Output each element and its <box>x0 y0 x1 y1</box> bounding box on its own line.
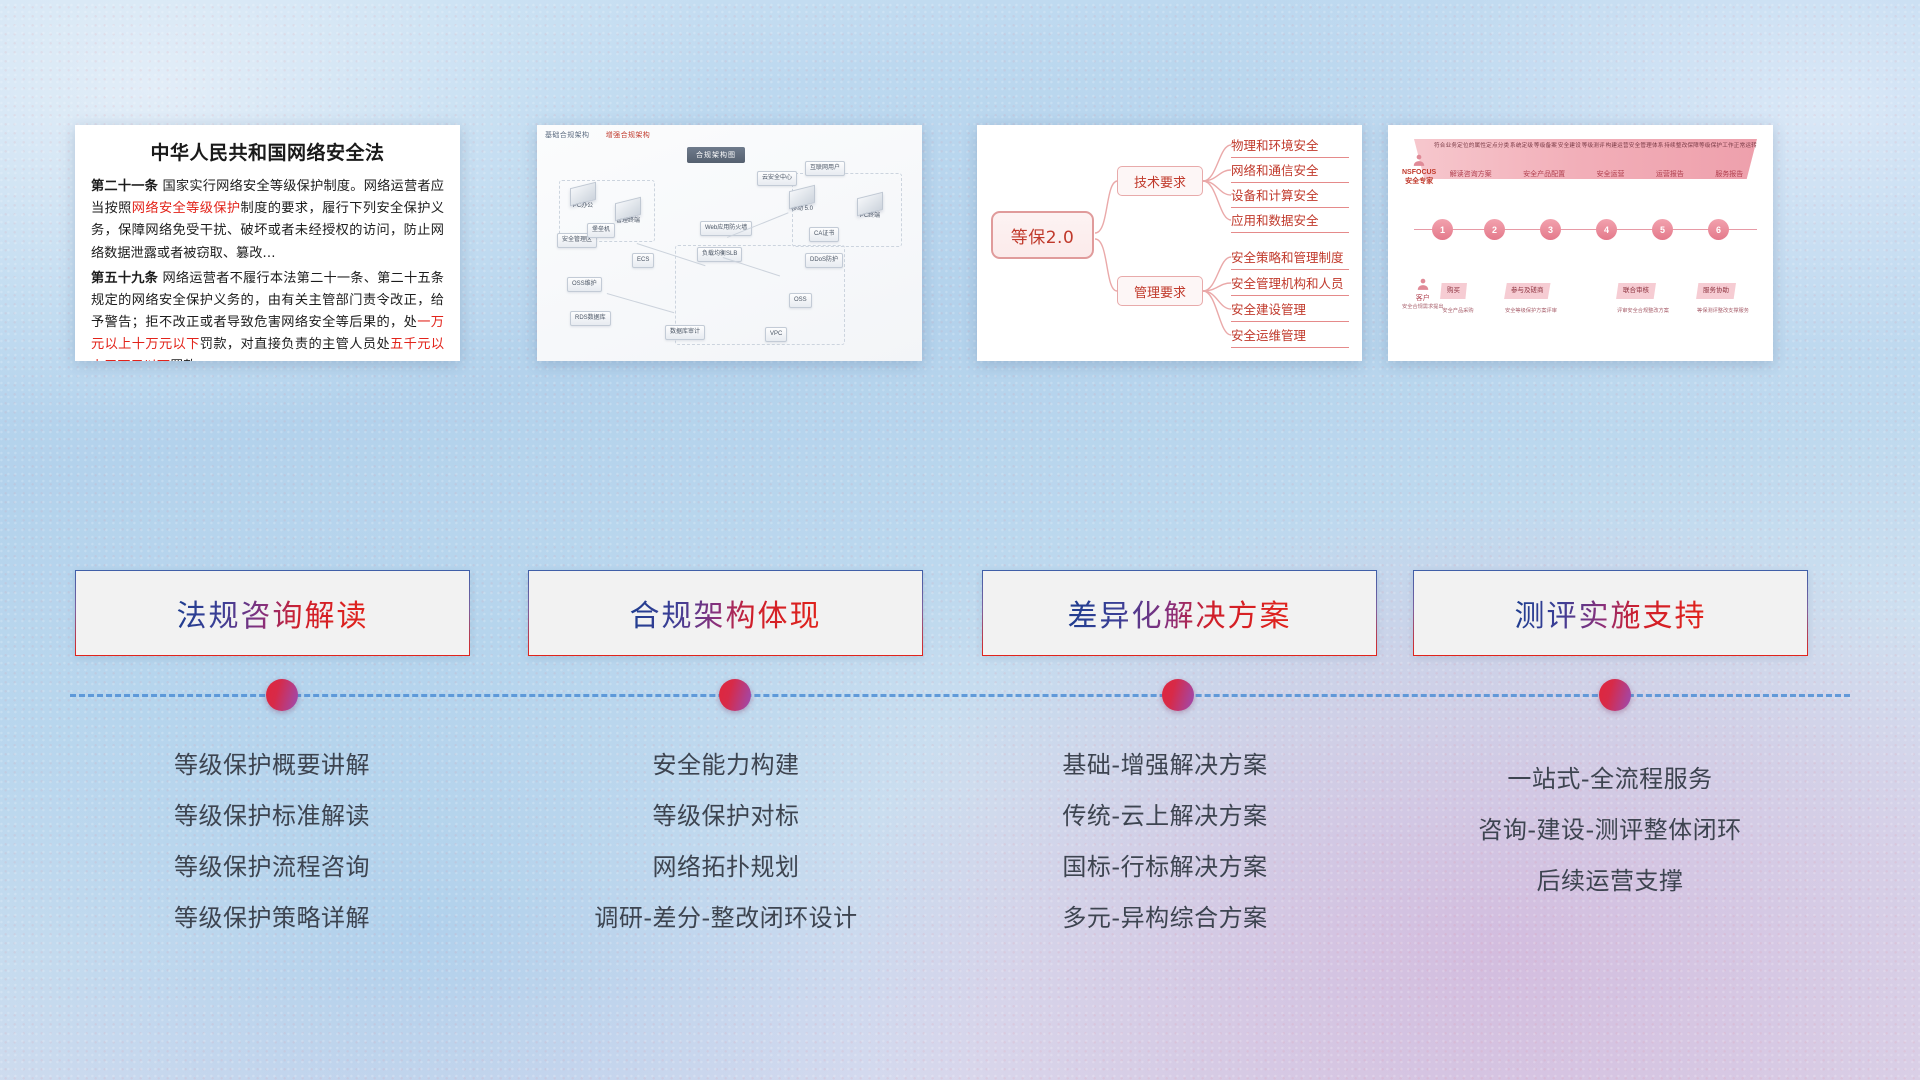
architecture-node-17-label: 数据库审计 <box>665 325 705 340</box>
heading-box-compliance-architecture[interactable]: 合规架构体现 <box>528 570 923 656</box>
architecture-canvas: 基础合规架构 增强合规架构 合规架构图 PC办公 管理终端 安全管理区 互联网用… <box>537 125 922 361</box>
architecture-node-11: CA证书 <box>809 227 839 242</box>
nsfocus-header-step-4: 等级测评 <box>1582 141 1605 149</box>
architecture-banner: 合规架构图 <box>687 147 745 163</box>
nsfocus-brand-badge: NSFOCUS 安全专家 <box>1402 153 1436 187</box>
law-card-body: 中华人民共和国网络安全法 第二十一条 国家实行网络安全等级保护制度。网络运营者应… <box>75 125 460 361</box>
architecture-node-12-label: DDoS防护 <box>805 253 843 268</box>
timeline-dot-0[interactable] <box>266 679 298 711</box>
architecture-node-15: OSS <box>789 293 812 308</box>
nsfocus-header-step-2: 等级备案 <box>1534 141 1557 149</box>
architecture-node-5-label: 云安全中心 <box>757 171 797 186</box>
mindmap-leaf-mgmt-2[interactable]: 安全建设管理 <box>1231 299 1349 322</box>
list-item[interactable]: 多元-异构综合方案 <box>955 893 1375 944</box>
nsfocus-tag-0[interactable]: 购买 <box>1440 283 1467 299</box>
architecture-node-9: 负载均衡SLB <box>697 247 742 262</box>
nsfocus-header-step-0: 符合业务定位的属性定点分类 <box>1434 141 1509 149</box>
mindmap-canvas: 等保2.0 技术要求 管理要求 物理和环境安全 网络和通信安全 设备和计算安全 … <box>977 125 1362 361</box>
list-item[interactable]: 等级保护对标 <box>516 791 936 842</box>
list-item[interactable]: 等级保护策略详解 <box>62 893 482 944</box>
architecture-node-8-label: 堡垒机 <box>587 223 615 238</box>
law-article-59-text-3: 罚款。 <box>170 359 210 361</box>
mindmap-leaf-mgmt-3[interactable]: 安全运维管理 <box>1231 325 1349 348</box>
list-item[interactable]: 咨询-建设-测评整体闭环 <box>1400 805 1820 856</box>
architecture-node-0: PC办公 <box>570 185 596 210</box>
nsfocus-sub-step-4: 服务报告 <box>1715 169 1743 179</box>
architecture-node-11-label: CA证书 <box>809 227 839 242</box>
nsfocus-tag-2[interactable]: 联合审核 <box>1616 283 1656 299</box>
law-article-21-label: 第二十一条 <box>91 179 158 194</box>
architecture-tabs: 基础合规架构 增强合规架构 <box>545 130 664 140</box>
mindmap-leaf-tech-1[interactable]: 网络和通信安全 <box>1231 160 1349 183</box>
mindmap-card[interactable]: 等保2.0 技术要求 管理要求 物理和环境安全 网络和通信安全 设备和计算安全 … <box>977 125 1362 361</box>
architecture-tab-enhanced[interactable]: 增强合规架构 <box>606 132 650 139</box>
law-article-21-highlight: 网络安全等级保护 <box>132 201 241 216</box>
law-article-59: 第五十九条 网络运营者不履行本法第二十一条、第二十五条规定的网络安全保护义务的，… <box>91 268 444 361</box>
customer-person-icon <box>1416 277 1430 291</box>
list-item[interactable]: 国标-行标解决方案 <box>955 842 1375 893</box>
detail-list-assessment-support: 一站式-全流程服务 咨询-建设-测评整体闭环 后续运营支撑 <box>1400 740 1820 907</box>
timeline-dot-3[interactable] <box>1599 679 1631 711</box>
nsfocus-canvas: 符合业务定位的属性定点分类 系统定级 等级备案 安全建设 等级测评 构建运营安全… <box>1388 125 1773 361</box>
nsfocus-header-steps: 符合业务定位的属性定点分类 系统定级 等级备案 安全建设 等级测评 构建运营安全… <box>1434 141 1757 149</box>
nsfocus-sub-steps: 解读咨询方案 安全产品配置 安全运营 运营报告 服务报告 <box>1434 169 1759 179</box>
mindmap-branch-technical[interactable]: 技术要求 <box>1117 166 1203 196</box>
law-article-59-text-2: 罚款，对直接负责的主管人员处 <box>200 337 390 352</box>
architecture-node-1: 管理终端 <box>615 200 641 225</box>
nsfocus-tag-3-title: 服务协助 <box>1703 287 1729 295</box>
nsfocus-sub-step-1: 安全产品配置 <box>1523 169 1565 179</box>
list-item[interactable]: 基础-增强解决方案 <box>955 740 1375 791</box>
architecture-node-4: 移动 5.0 <box>789 188 815 213</box>
nsfocus-sub-step-0: 解读咨询方案 <box>1450 169 1492 179</box>
nsfocus-tag-3-caption: 等保测评整改支撑服务 <box>1676 307 1770 314</box>
nsfocus-header-step-1: 系统定级 <box>1510 141 1533 149</box>
nsfocus-tag-0-title: 购买 <box>1447 287 1460 295</box>
nsfocus-customer-block: 客户 安全合规需求提出 <box>1402 277 1444 310</box>
nsfocus-brand-name: NSFOCUS <box>1402 169 1436 178</box>
heading-row: 法规咨询解读 合规架构体现 差异化解决方案 测评实施支持 <box>0 570 1920 658</box>
architecture-node-10-label: ECS <box>632 253 654 268</box>
heading-label-1: 合规架构体现 <box>630 591 822 635</box>
law-article-59-label: 第五十九条 <box>91 271 158 286</box>
architecture-node-6: PC终端 <box>857 195 883 220</box>
architecture-node-9-label: 负载均衡SLB <box>697 247 742 262</box>
nsfocus-tag-0-caption: 安全产品采购 <box>1428 307 1488 314</box>
nsfocus-header-step-5: 构建运营安全管理体系 <box>1606 141 1664 149</box>
nsfocus-header-step-6: 持续整改保障等级保护工作正常运转 <box>1664 141 1757 149</box>
architecture-node-17: 数据库审计 <box>665 325 705 340</box>
nsfocus-step-dot-5[interactable]: 5 <box>1652 219 1673 240</box>
architecture-node-8: 堡垒机 <box>587 223 615 238</box>
list-item[interactable]: 等级保护标准解读 <box>62 791 482 842</box>
architecture-diagram-card[interactable]: 基础合规架构 增强合规架构 合规架构图 PC办公 管理终端 安全管理区 互联网用… <box>537 125 922 361</box>
architecture-node-3: 互联网用户 <box>805 161 845 176</box>
mindmap-leaf-mgmt-0[interactable]: 安全策略和管理制度 <box>1231 247 1349 270</box>
architecture-node-3-label: 互联网用户 <box>805 161 845 176</box>
timeline-dot-1[interactable] <box>719 679 751 711</box>
law-text-card[interactable]: 中华人民共和国网络安全法 第二十一条 国家实行网络安全等级保护制度。网络运营者应… <box>75 125 460 361</box>
architecture-node-13: OSS维护 <box>567 277 602 292</box>
heading-label-0: 法规咨询解读 <box>177 591 369 635</box>
mindmap-leaf-tech-0[interactable]: 物理和环境安全 <box>1231 135 1349 158</box>
list-item[interactable]: 等级保护概要讲解 <box>62 740 482 791</box>
nsfocus-timeline-card[interactable]: 符合业务定位的属性定点分类 系统定级 等级备案 安全建设 等级测评 构建运营安全… <box>1388 125 1773 361</box>
architecture-node-5: 云安全中心 <box>757 171 797 186</box>
timeline-track <box>70 694 1850 698</box>
list-item[interactable]: 调研-差分-整改闭环设计 <box>516 893 936 944</box>
architecture-tab-basic[interactable]: 基础合规架构 <box>545 132 589 139</box>
architecture-link <box>607 293 675 313</box>
list-item[interactable]: 后续运营支撑 <box>1400 856 1820 907</box>
nsfocus-brand-sub: 安全专家 <box>1402 178 1436 187</box>
architecture-node-14-label: RDS数据库 <box>570 311 611 326</box>
nsfocus-customer-label: 客户 <box>1402 293 1444 303</box>
mindmap-leaf-mgmt-1[interactable]: 安全管理机构和人员 <box>1231 273 1349 296</box>
list-item[interactable]: 网络拓扑规划 <box>516 842 936 893</box>
nsfocus-step-dot-3[interactable]: 3 <box>1540 219 1561 240</box>
nsfocus-step-dot-6[interactable]: 6 <box>1708 219 1729 240</box>
nsfocus-axis <box>1414 229 1757 230</box>
image-card-row: 中华人民共和国网络安全法 第二十一条 国家实行网络安全等级保护制度。网络运营者应… <box>0 125 1920 365</box>
expert-person-icon <box>1412 153 1426 167</box>
nsfocus-sub-step-2: 安全运营 <box>1596 169 1624 179</box>
timeline-dot-2[interactable] <box>1162 679 1194 711</box>
heading-label-3: 测评实施支持 <box>1515 591 1707 635</box>
detail-list-differentiated-solution: 基础-增强解决方案 传统-云上解决方案 国标-行标解决方案 多元-异构综合方案 <box>955 740 1375 944</box>
heading-label-2: 差异化解决方案 <box>1068 591 1292 635</box>
list-item[interactable]: 等级保护流程咨询 <box>62 842 482 893</box>
mindmap-branch-management[interactable]: 管理要求 <box>1117 276 1203 306</box>
nsfocus-step-dot-2[interactable]: 2 <box>1484 219 1505 240</box>
nsfocus-header-step-3: 安全建设 <box>1558 141 1581 149</box>
detail-list-compliance-architecture: 安全能力构建 等级保护对标 网络拓扑规划 调研-差分-整改闭环设计 <box>516 740 936 944</box>
nsfocus-step-dot-4[interactable]: 4 <box>1596 219 1617 240</box>
mindmap-leaf-tech-3[interactable]: 应用和数据安全 <box>1231 210 1349 233</box>
architecture-node-14: RDS数据库 <box>570 311 611 326</box>
nsfocus-tag-2-title: 联合审核 <box>1623 287 1649 295</box>
nsfocus-tag-1[interactable]: 参与及磋商 <box>1504 283 1551 299</box>
list-item[interactable]: 安全能力构建 <box>516 740 936 791</box>
mindmap-root-node[interactable]: 等保2.0 <box>991 211 1094 259</box>
list-item[interactable]: 传统-云上解决方案 <box>955 791 1375 842</box>
timeline-dashed-line <box>70 694 1850 697</box>
nsfocus-step-dot-1[interactable]: 1 <box>1432 219 1453 240</box>
architecture-node-7: Web应用防火墙 <box>700 221 752 236</box>
architecture-node-16: VPC <box>765 327 787 342</box>
architecture-node-13-label: OSS维护 <box>567 277 602 292</box>
law-title: 中华人民共和国网络安全法 <box>91 138 444 165</box>
architecture-node-12: DDoS防护 <box>805 253 843 268</box>
law-article-21: 第二十一条 国家实行网络安全等级保护制度。网络运营者应当按照网络安全等级保护制度… <box>91 176 444 265</box>
architecture-node-15-label: OSS <box>789 293 812 308</box>
architecture-node-7-label: Web应用防火墙 <box>700 221 752 236</box>
nsfocus-tag-3[interactable]: 服务协助 <box>1696 283 1736 299</box>
list-item[interactable]: 一站式-全流程服务 <box>1400 754 1820 805</box>
architecture-node-10: ECS <box>632 253 654 268</box>
detail-list-regulation-consulting: 等级保护概要讲解 等级保护标准解读 等级保护流程咨询 等级保护策略详解 <box>62 740 482 944</box>
architecture-node-16-label: VPC <box>765 327 787 342</box>
nsfocus-sub-step-3: 运营报告 <box>1656 169 1684 179</box>
nsfocus-tag-1-caption: 安全等级保护方案评审 <box>1486 307 1576 314</box>
mindmap-leaf-tech-2[interactable]: 设备和计算安全 <box>1231 185 1349 208</box>
heading-box-assessment-support[interactable]: 测评实施支持 <box>1413 570 1808 656</box>
nsfocus-tag-1-title: 参与及磋商 <box>1511 287 1544 295</box>
heading-box-differentiated-solution[interactable]: 差异化解决方案 <box>982 570 1377 656</box>
heading-box-regulation-consulting[interactable]: 法规咨询解读 <box>75 570 470 656</box>
